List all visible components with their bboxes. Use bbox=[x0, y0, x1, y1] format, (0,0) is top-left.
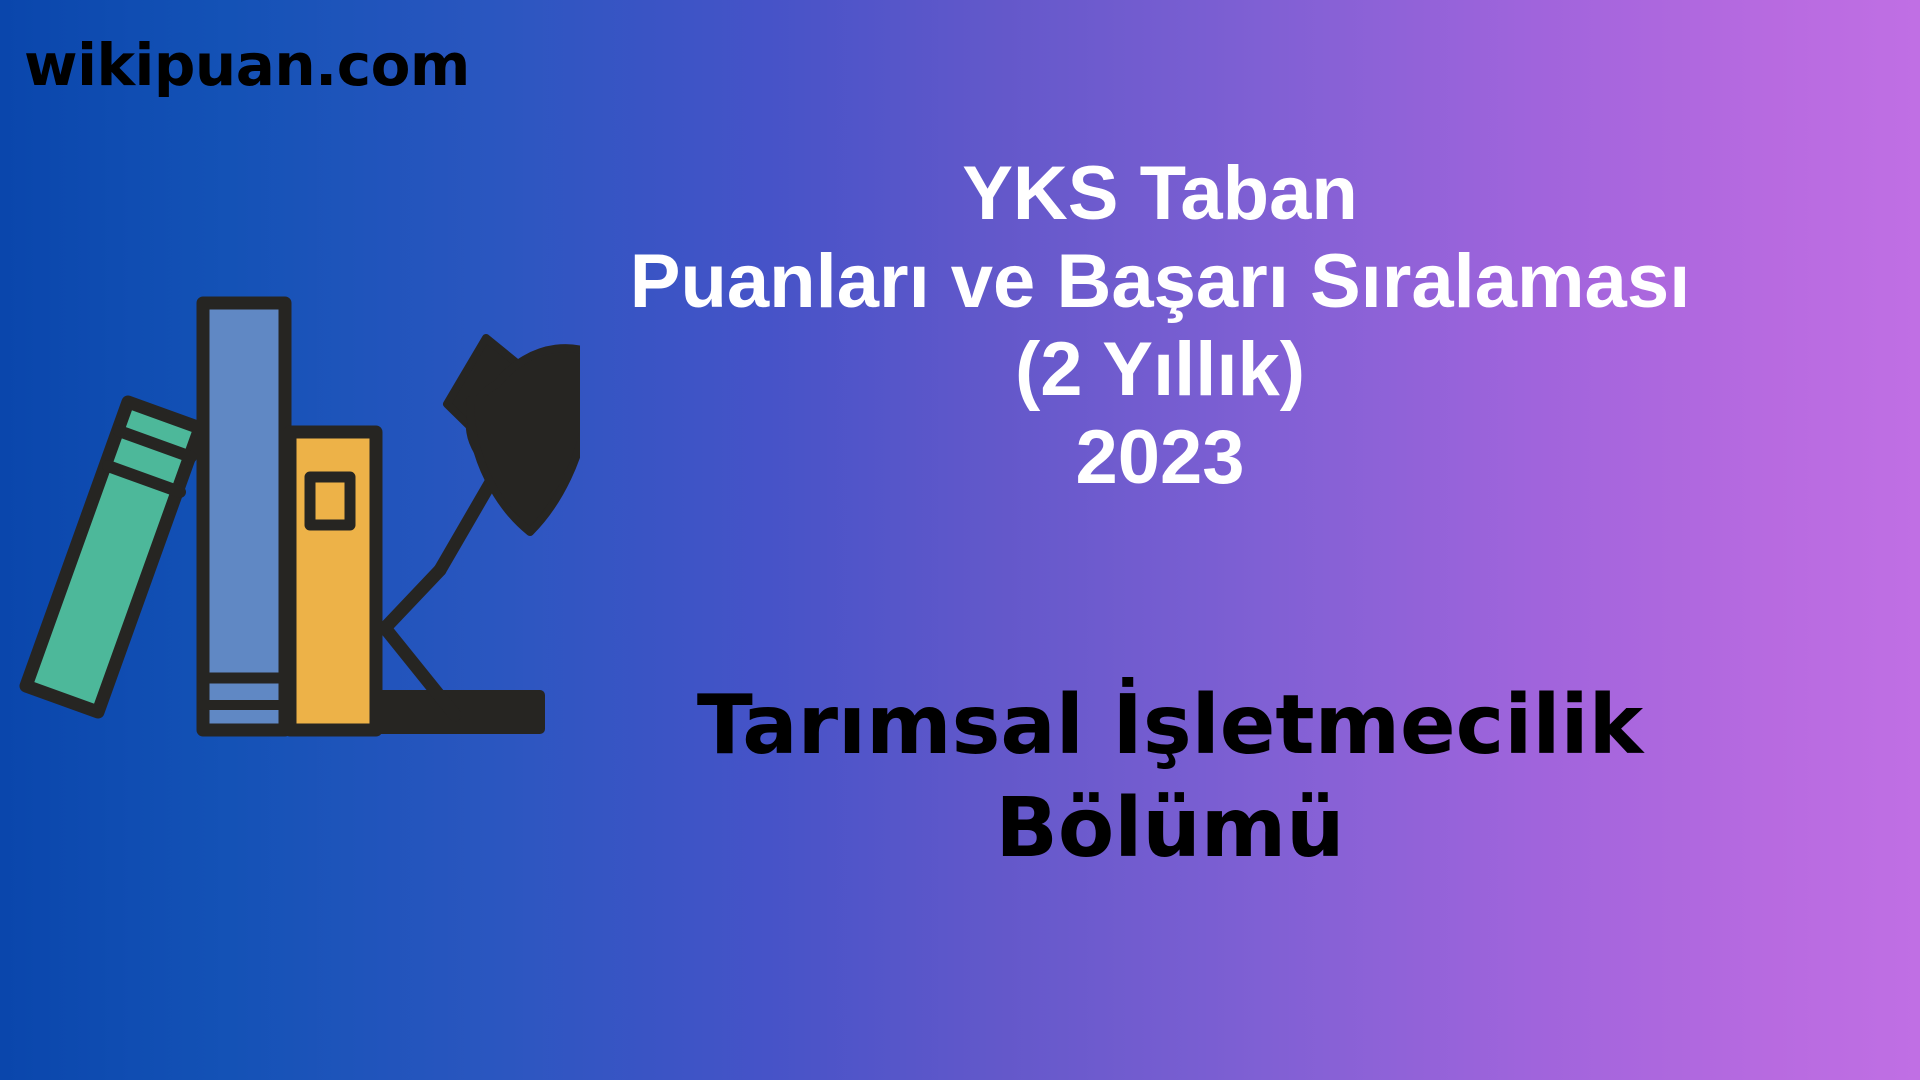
books-and-desk-lamp-illustration bbox=[0, 280, 580, 750]
headline-line-2: Puanları ve Başarı Sıralaması bbox=[560, 238, 1760, 326]
subhead-line-1: Tarımsal İşletmecilik bbox=[530, 675, 1810, 778]
upright-blue-book bbox=[203, 303, 285, 730]
headline-block: YKS Taban Puanları ve Başarı Sıralaması … bbox=[560, 150, 1760, 503]
illustration-svg bbox=[0, 280, 580, 750]
subhead-line-2: Bölümü bbox=[530, 778, 1810, 881]
site-watermark: wikipuan.com bbox=[24, 36, 470, 94]
headline-line-3: (2 Yıllık) bbox=[560, 326, 1760, 414]
orange-book-label bbox=[310, 477, 350, 525]
subhead-block: Tarımsal İşletmecilik Bölümü bbox=[530, 675, 1810, 880]
headline-line-1: YKS Taban bbox=[560, 150, 1760, 238]
banner-canvas: wikipuan.com bbox=[0, 0, 1920, 1080]
headline-line-4: 2023 bbox=[560, 414, 1760, 502]
tilted-green-book bbox=[26, 402, 200, 712]
orange-book bbox=[290, 432, 376, 730]
